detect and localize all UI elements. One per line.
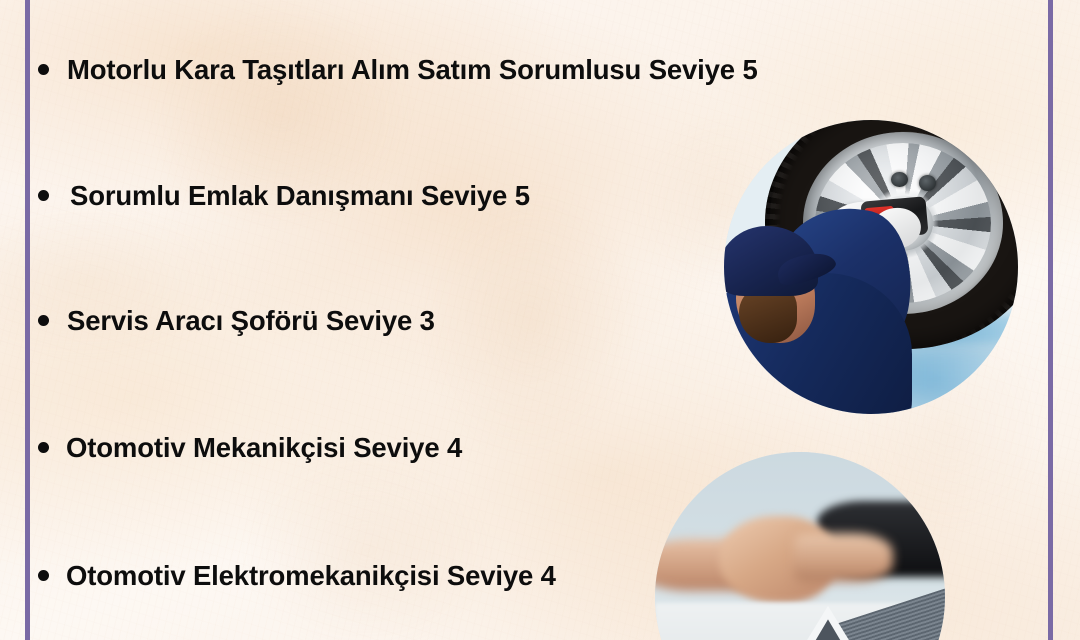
list-item: Otomotiv Mekanikçisi Seviye 4 [38,434,462,462]
bullet-dot-icon [38,315,49,326]
bullet-dot-icon [38,442,49,453]
list-item: Otomotiv Elektromekanikçisi Seviye 4 [38,562,556,590]
list-item: Sorumlu Emlak Danışmanı Seviye 5 [38,182,530,210]
list-item: Motorlu Kara Taşıtları Alım Satım Soruml… [38,56,758,84]
mechanic-wheel-photo [724,120,1018,414]
slide-canvas: Motorlu Kara Taşıtları Alım Satım Soruml… [0,0,1080,640]
right-purple-rule [1048,0,1053,640]
model-house [783,603,945,640]
bullet-dot-icon [38,190,49,201]
list-item-label: Otomotiv Mekanikçisi Seviye 4 [66,434,462,462]
bullet-dot-icon [38,570,49,581]
bullet-dot-icon [38,64,49,75]
right-forearm [794,533,893,582]
list-item-label: Motorlu Kara Taşıtları Alım Satım Soruml… [67,56,758,84]
left-purple-rule [25,0,30,640]
list-item-label: Servis Aracı Şoförü Seviye 3 [67,307,435,335]
garage-blur-shelf-secondary [895,355,1018,390]
handshake-house-photo [655,452,945,640]
list-item-label: Otomotiv Elektromekanikçisi Seviye 4 [66,562,556,590]
list-item: Servis Aracı Şoförü Seviye 3 [38,307,435,335]
list-item-label: Sorumlu Emlak Danışmanı Seviye 5 [70,182,530,210]
